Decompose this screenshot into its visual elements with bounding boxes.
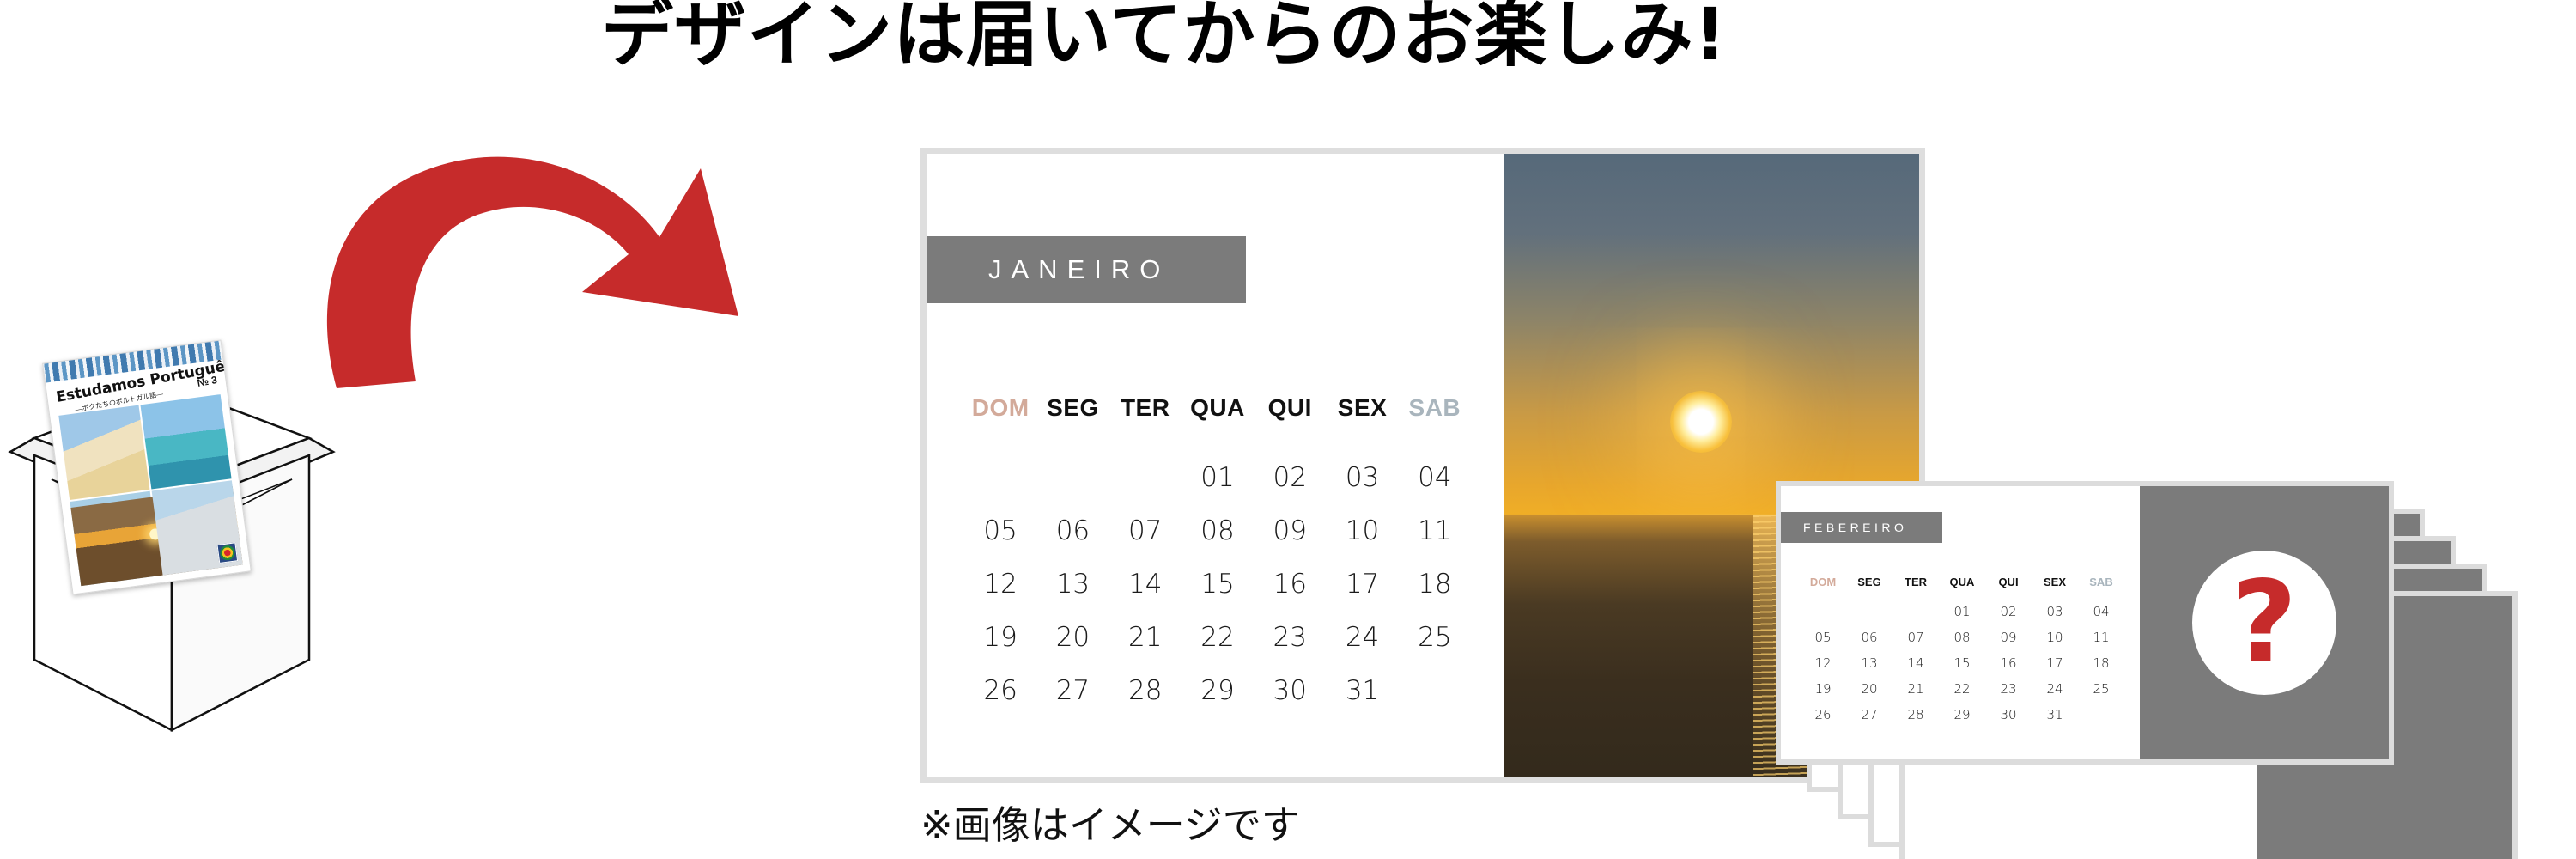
week-row: 12 13 14 15 16 17 18 <box>1800 650 2124 676</box>
day-cell: 06 <box>1036 504 1109 557</box>
day-cell: 04 <box>1399 451 1471 504</box>
day-cell: 26 <box>964 664 1036 717</box>
day-cell: 29 <box>1182 664 1254 717</box>
day-cell <box>1893 599 1939 624</box>
day-cell <box>2078 702 2124 728</box>
week-row: 01 02 03 04 <box>1800 599 2124 624</box>
day-cell: 31 <box>1326 664 1398 717</box>
day-cell: 30 <box>1254 664 1326 717</box>
day-cell: 07 <box>1893 624 1939 650</box>
day-cell: 19 <box>964 611 1036 664</box>
weekday-dom: DOM <box>964 394 1036 451</box>
day-cell: 16 <box>1254 557 1326 611</box>
day-cell: 18 <box>1399 557 1471 611</box>
weekday-qua: QUA <box>1939 576 1985 599</box>
day-cell: 05 <box>1800 624 1846 650</box>
week-row: 12 13 14 15 16 17 18 <box>964 557 1471 611</box>
day-cell: 13 <box>1036 557 1109 611</box>
day-cell: 11 <box>1399 504 1471 557</box>
calendar-card-small: FEBEREIRO DOM SEG TER QUA QUI SEX SAB <box>1776 481 2394 765</box>
calendar-stack: FEBEREIRO DOM SEG TER QUA QUI SEX SAB <box>1776 481 2549 859</box>
beach-photo <box>140 394 231 489</box>
day-cell: 30 <box>1985 702 2032 728</box>
day-cell: 25 <box>2078 676 2124 702</box>
magazine-cover: Estudamos Português —ボクたちのポルトガル語— № 3 <box>42 339 252 594</box>
day-cell: 23 <box>1254 611 1326 664</box>
day-cell: 08 <box>1939 624 1985 650</box>
day-cell: 02 <box>1254 451 1326 504</box>
weekday-sab: SAB <box>2078 576 2124 599</box>
day-cell: 06 <box>1846 624 1893 650</box>
sun-glow <box>1670 391 1732 453</box>
month-label-main: JANEIRO <box>927 254 1170 285</box>
day-cell: 13 <box>1846 650 1893 676</box>
monument-photo <box>152 480 243 575</box>
day-cell: 23 <box>1985 676 2032 702</box>
weekday-ter: TER <box>1893 576 1939 599</box>
day-cell: 29 <box>1939 702 1985 728</box>
weekday-sab: SAB <box>1399 394 1471 451</box>
day-cell <box>1846 599 1893 624</box>
image-disclaimer-caption: ※画像はイメージです <box>920 794 1300 850</box>
day-cell <box>1109 451 1182 504</box>
day-cell: 16 <box>1985 650 2032 676</box>
day-cell: 07 <box>1109 504 1182 557</box>
poster-canvas: デザインは届いてからのお楽しみ! Estudamos Português —ボク… <box>0 0 2576 859</box>
day-cell: 03 <box>2032 599 2078 624</box>
day-cell: 11 <box>2078 624 2124 650</box>
day-cell <box>1399 664 1471 717</box>
day-cell: 17 <box>2032 650 2078 676</box>
day-cell: 20 <box>1036 611 1109 664</box>
month-banner-main: JANEIRO <box>927 236 1246 303</box>
day-cell: 12 <box>964 557 1036 611</box>
mystery-panel: ? <box>2140 486 2389 759</box>
week-row: 26 27 28 29 30 31 <box>964 664 1471 717</box>
day-cell: 03 <box>1326 451 1398 504</box>
page-title: デザインは届いてからのお楽しみ! <box>601 0 2061 70</box>
day-cell: 21 <box>1893 676 1939 702</box>
day-cell: 14 <box>1109 557 1182 611</box>
day-cell: 28 <box>1109 664 1182 717</box>
sky-gradient <box>1504 154 1919 515</box>
week-row: 05 06 07 08 09 10 11 <box>964 504 1471 557</box>
day-cell: 20 <box>1846 676 1893 702</box>
weekday-header-row-main: DOM SEG TER QUA QUI SEX SAB <box>964 394 1471 451</box>
day-cell: 14 <box>1893 650 1939 676</box>
day-cell: 10 <box>1326 504 1398 557</box>
weekday-qui: QUI <box>1254 394 1326 451</box>
calendar-grid-main: DOM SEG TER QUA QUI SEX SAB 01 02 03 04 <box>964 394 1471 717</box>
week-row: 01 02 03 04 <box>964 451 1471 504</box>
question-mark-badge: ? <box>2192 551 2336 695</box>
curved-arrow-icon <box>258 86 790 395</box>
day-cell: 17 <box>1326 557 1398 611</box>
question-mark-icon: ? <box>2232 566 2298 679</box>
week-row: 19 20 21 22 23 24 25 <box>964 611 1471 664</box>
day-cell: 09 <box>1985 624 2032 650</box>
day-cell: 12 <box>1800 650 1846 676</box>
day-cell: 04 <box>2078 599 2124 624</box>
day-cell <box>964 451 1036 504</box>
city-photo <box>70 491 161 586</box>
day-cell: 08 <box>1182 504 1254 557</box>
day-cell: 24 <box>2032 676 2078 702</box>
magazine-photo-grid <box>58 394 242 586</box>
day-cell: 27 <box>1846 702 1893 728</box>
day-cell: 10 <box>2032 624 2078 650</box>
day-cell: 22 <box>1939 676 1985 702</box>
weekday-header-row-small: DOM SEG TER QUA QUI SEX SAB <box>1800 576 2124 599</box>
day-cell: 28 <box>1893 702 1939 728</box>
compass-rose-badge-icon <box>216 542 238 564</box>
calendar-main-left-pane: JANEIRO DOM SEG TER QUA QUI SEX SAB 01 <box>927 154 1504 777</box>
day-cell: 01 <box>1182 451 1254 504</box>
day-cell: 02 <box>1985 599 2032 624</box>
day-cell: 21 <box>1109 611 1182 664</box>
weekday-sex: SEX <box>1326 394 1398 451</box>
weekday-qui: QUI <box>1985 576 2032 599</box>
day-cell: 18 <box>2078 650 2124 676</box>
day-cell <box>1036 451 1109 504</box>
weekday-seg: SEG <box>1036 394 1109 451</box>
day-cell: 25 <box>1399 611 1471 664</box>
day-cell <box>1800 599 1846 624</box>
week-row: 19 20 21 22 23 24 25 <box>1800 676 2124 702</box>
day-cell: 22 <box>1182 611 1254 664</box>
weekday-seg: SEG <box>1846 576 1893 599</box>
calendar-card-main: JANEIRO DOM SEG TER QUA QUI SEX SAB 01 <box>920 148 1925 783</box>
day-cell: 01 <box>1939 599 1985 624</box>
church-photo <box>58 405 149 500</box>
month-banner-small: FEBEREIRO <box>1781 512 1942 543</box>
day-cell: 31 <box>2032 702 2078 728</box>
day-cell: 09 <box>1254 504 1326 557</box>
month-label-small: FEBEREIRO <box>1781 521 1907 534</box>
calendar-grid-small: DOM SEG TER QUA QUI SEX SAB 01 02 <box>1800 576 2124 728</box>
day-cell: 05 <box>964 504 1036 557</box>
day-cell: 26 <box>1800 702 1846 728</box>
week-row: 26 27 28 29 30 31 <box>1800 702 2124 728</box>
calendar-small-left-pane: FEBEREIRO DOM SEG TER QUA QUI SEX SAB <box>1781 486 2140 759</box>
day-cell: 15 <box>1939 650 1985 676</box>
weekday-sex: SEX <box>2032 576 2078 599</box>
weekday-qua: QUA <box>1182 394 1254 451</box>
day-cell: 15 <box>1182 557 1254 611</box>
day-cell: 24 <box>1326 611 1398 664</box>
day-cell: 19 <box>1800 676 1846 702</box>
week-row: 05 06 07 08 09 10 11 <box>1800 624 2124 650</box>
weekday-ter: TER <box>1109 394 1182 451</box>
weekday-dom: DOM <box>1800 576 1846 599</box>
day-cell: 27 <box>1036 664 1109 717</box>
